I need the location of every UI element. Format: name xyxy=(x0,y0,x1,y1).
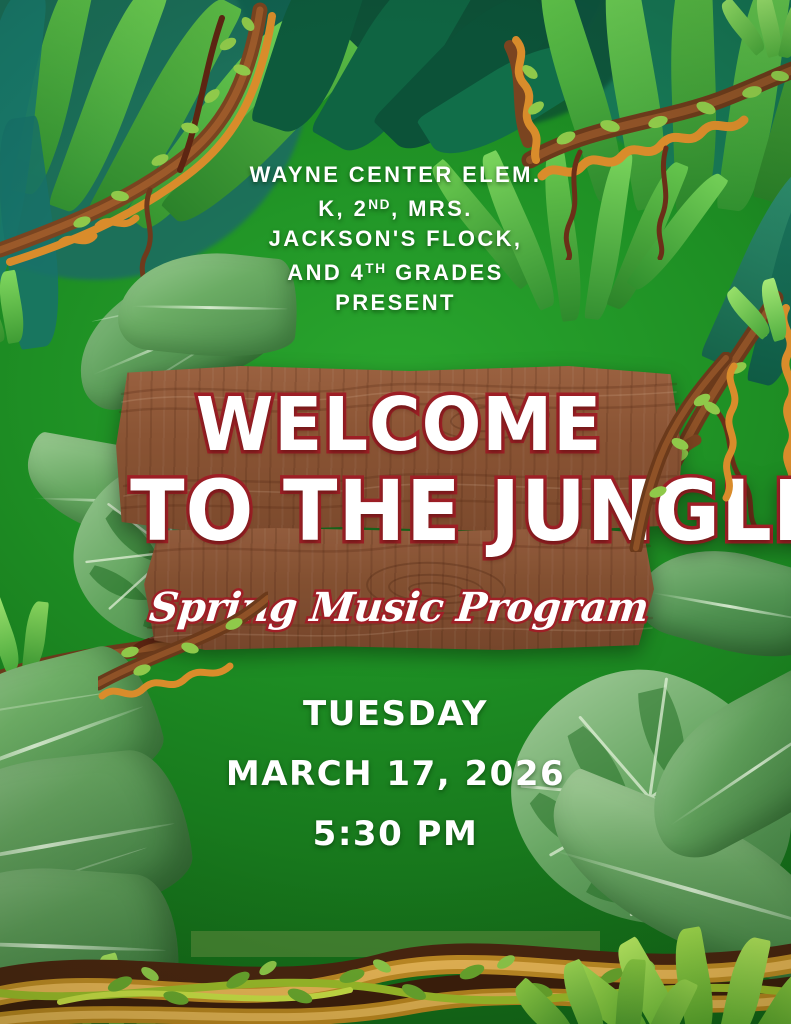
header-line-2-sup: ND xyxy=(368,197,391,212)
event-date: MARCH 17, 2026 xyxy=(0,754,791,794)
header-line-5: PRESENT xyxy=(0,288,791,318)
header-line-1: WAYNE CENTER ELEM. xyxy=(0,160,791,190)
header-line-4-pre: AND 4 xyxy=(287,260,365,285)
sign-title-line-2: TO THE JUNGLE xyxy=(130,462,668,560)
vine-over-sign-right xyxy=(596,352,746,552)
header-line-2-post: , MRS. xyxy=(391,196,473,221)
header-line-4-sup: TH xyxy=(365,261,386,276)
header-line-4: AND 4TH GRADES xyxy=(0,254,791,288)
vine-over-sign-left xyxy=(98,588,268,708)
event-time: 5:30 PM xyxy=(0,814,791,854)
header-line-3: JACKSON'S FLOCK, xyxy=(0,224,791,254)
header-line-2: K, 2ND, MRS. xyxy=(0,190,791,224)
bush-bottom-center xyxy=(560,946,710,1024)
event-details-block: TUESDAY MARCH 17, 2026 5:30 PM xyxy=(0,694,791,854)
event-day: TUESDAY xyxy=(0,694,791,734)
header-line-2-pre: K, 2 xyxy=(318,196,368,221)
jungle-poster: WELCOME TO THE JUNGLE Spring Music Progr… xyxy=(0,0,791,1024)
header-text-block: WAYNE CENTER ELEM. K, 2ND, MRS. JACKSON'… xyxy=(0,160,791,318)
sign-title-line-1: WELCOME xyxy=(130,382,668,468)
header-line-4-post: GRADES xyxy=(387,260,504,285)
